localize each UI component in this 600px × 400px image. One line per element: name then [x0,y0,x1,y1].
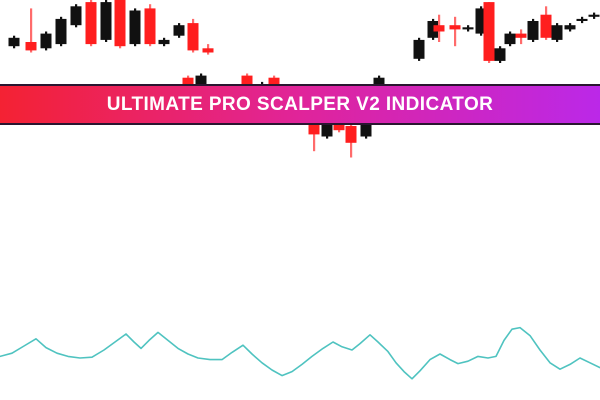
candle-wick [207,44,209,55]
candle-wick [30,8,32,52]
candle-body-up [541,15,552,38]
candle-body-up [516,34,527,38]
candle-wick [488,2,490,63]
candle-wick [149,4,151,46]
candle-body-down [565,25,576,29]
candle-body-down [577,19,588,21]
candle-wick [520,29,522,44]
candle-wick [350,124,352,158]
candle-wick [134,8,136,46]
candle-wick [45,32,47,51]
candle-body-up [203,48,214,52]
candle-wick [569,23,571,31]
candle-wick [75,4,77,27]
page-title: ULTIMATE PRO SCALPER V2 INDICATOR [107,95,494,114]
candle-wick [432,19,434,40]
candle-body-down [130,11,141,45]
candle-wick [418,38,420,61]
candle-wick [581,17,583,23]
oscillator-chart [0,0,600,400]
candle-body-up [188,23,199,50]
oscillator-line [0,328,600,379]
candle-body-up [450,25,461,29]
candle-wick [556,23,558,42]
candle-body-down [428,21,439,38]
candle-wick [593,13,595,19]
candle-body-down [528,21,539,40]
candle-wick [163,38,165,46]
candle-wick [467,25,469,31]
candle-body-down [101,2,112,40]
candle-wick [545,6,547,40]
candle-wick [509,32,511,47]
candle-wick [480,6,482,35]
candle-body-down [9,38,20,46]
candle-body-down [56,19,67,44]
candle-wick [13,36,15,49]
title-banner: ULTIMATE PRO SCALPER V2 INDICATOR [0,84,600,125]
candle-wick [532,19,534,42]
candle-body-down [414,40,425,59]
candle-body-down [159,40,170,44]
candle-body-down [463,27,474,29]
candle-body-up [484,2,495,61]
candle-body-up [115,0,126,46]
candle-body-down [495,48,506,61]
candle-body-down [552,25,563,40]
candle-wick [499,46,501,63]
candle-wick [192,19,194,53]
candle-body-down [589,15,600,17]
candle-body-up [145,8,156,44]
candle-wick [90,0,92,46]
candle-wick [119,0,121,48]
candle-body-down [174,25,185,36]
candle-body-down [505,34,516,45]
indicator-promo-graphic: ULTIMATE PRO SCALPER V2 INDICATOR [0,0,600,400]
candle-wick [60,17,62,46]
candle-body-up [26,42,37,50]
candle-wick [438,15,440,42]
candle-body-up [86,2,97,44]
candle-body-down [71,6,82,25]
candle-wick [178,23,180,38]
candle-body-down [476,8,487,33]
candle-wick [105,0,107,42]
candle-body-up [434,25,445,31]
candle-body-up [346,126,357,143]
candle-body-down [41,34,52,49]
candlestick-chart [0,0,600,400]
candle-wick [454,17,456,46]
